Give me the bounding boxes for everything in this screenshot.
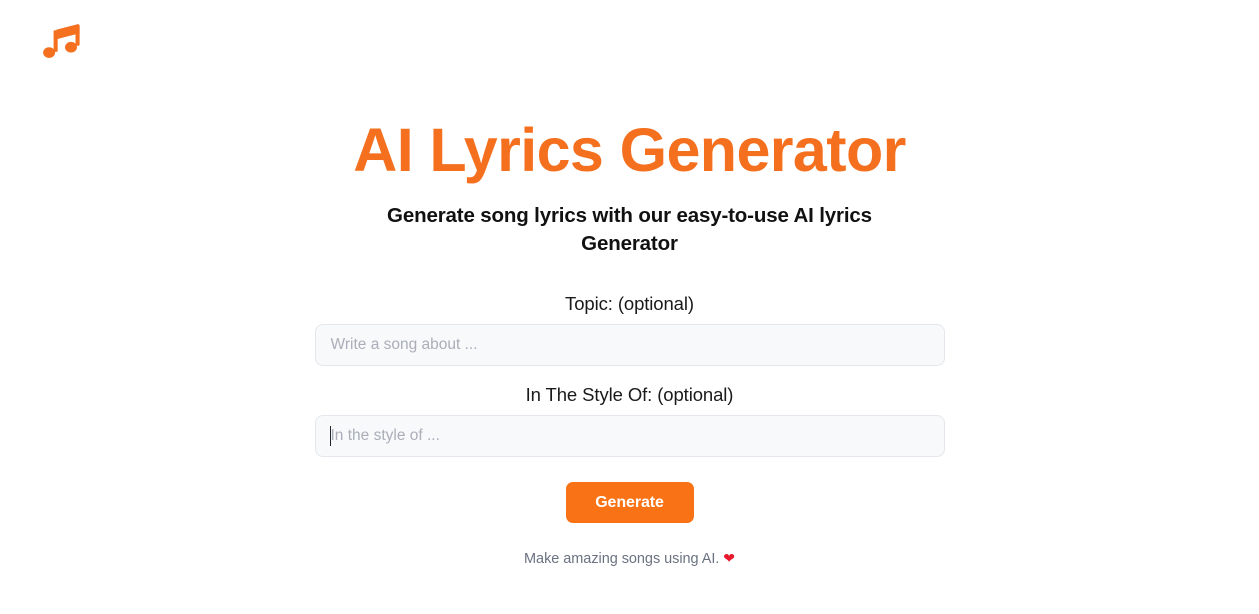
style-input-wrap	[315, 415, 945, 457]
page-title: AI Lyrics Generator	[353, 112, 906, 188]
page-subtitle: Generate song lyrics with our easy-to-us…	[380, 202, 880, 258]
topic-input-wrap	[315, 324, 945, 366]
text-caret	[330, 426, 332, 446]
generate-button[interactable]: Generate	[566, 482, 694, 523]
heart-icon: ❤	[723, 550, 735, 566]
style-label: In The Style Of: (optional)	[526, 382, 734, 408]
footer-text: Make amazing songs using AI.	[524, 551, 719, 567]
style-input[interactable]	[315, 415, 945, 457]
topic-label: Topic: (optional)	[565, 291, 694, 317]
main-content: AI Lyrics Generator Generate song lyrics…	[0, 0, 1259, 569]
footer-note: Make amazing songs using AI. ❤	[524, 548, 735, 569]
topic-field-group: Topic: (optional)	[315, 291, 945, 366]
lyrics-generator-form: Topic: (optional) In The Style Of: (opti…	[315, 291, 945, 523]
topic-input[interactable]	[315, 324, 945, 366]
style-field-group: In The Style Of: (optional)	[315, 382, 945, 457]
